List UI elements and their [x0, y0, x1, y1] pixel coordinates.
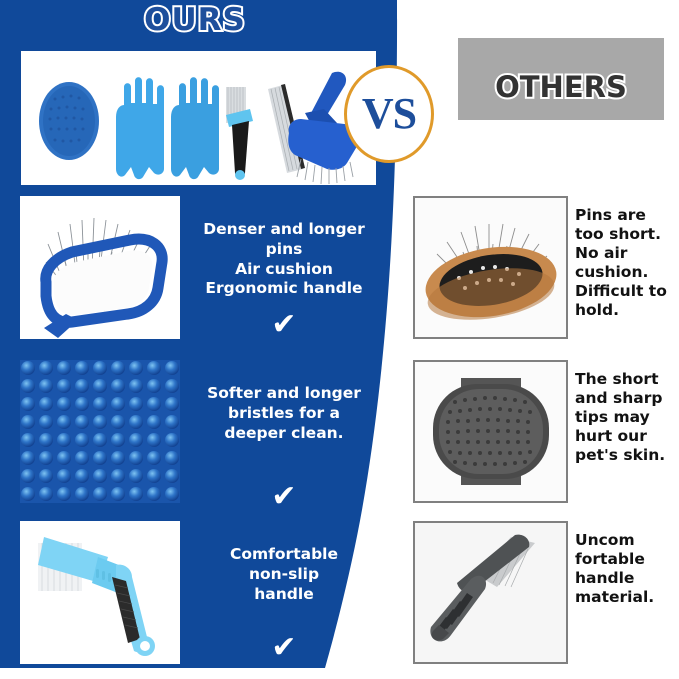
ours-text-1: Denser and longer pins Air cushion Ergon…: [186, 220, 382, 299]
others-text-3-line-1: Uncom: [575, 531, 679, 550]
comparison-row-1: Denser and longer pins Air cushion Ergon…: [0, 196, 679, 356]
others-text-3-line-4: material.: [575, 588, 679, 607]
others-text-1-line-6: hold.: [575, 301, 679, 320]
others-text-1-line-4: cushion.: [575, 263, 679, 282]
ours-text-1-line-3: Ergonomic handle: [186, 279, 382, 299]
check-icon-3: ✔: [186, 633, 382, 663]
others-text-2-line-1: The short: [575, 370, 679, 389]
vs-badge: VS: [344, 65, 434, 163]
others-image-2: [413, 360, 568, 503]
ours-text-2-line-3: deeper clean.: [186, 424, 382, 444]
page-title-ours: OURS: [0, 2, 390, 38]
others-text-3-line-2: fortable: [575, 550, 679, 569]
others-text-1: Pins are too short. No air cushion. Diff…: [575, 206, 679, 319]
others-text-3-line-3: handle: [575, 569, 679, 588]
others-text-3: Uncom fortable handle material.: [575, 531, 679, 607]
ours-image-2: [20, 360, 180, 503]
ours-text-3-line-3: handle: [186, 585, 382, 605]
others-text-1-line-5: Difficult to: [575, 282, 679, 301]
ours-image-1: [20, 196, 180, 339]
ours-text-2-line-2: bristles for a: [186, 404, 382, 424]
hero-product-image: [21, 51, 376, 185]
comparison-row-3: Comfortable non-slip handle ✔: [0, 521, 679, 678]
check-icon-2: ✔: [186, 482, 382, 512]
others-image-1: [413, 196, 568, 339]
vs-label: VS: [362, 92, 416, 136]
others-text-2-line-2: and sharp: [575, 389, 679, 408]
others-text-1-line-3: No air: [575, 244, 679, 263]
ours-text-3: Comfortable non-slip handle: [186, 545, 382, 604]
ours-text-2: Softer and longer bristles for a deeper …: [186, 384, 382, 443]
others-image-3: [413, 521, 568, 664]
others-text-1-line-2: too short.: [575, 225, 679, 244]
others-text-2-line-5: pet's skin.: [575, 446, 679, 465]
ours-text-3-line-1: Comfortable: [186, 545, 382, 565]
others-text-2-line-4: hurt our: [575, 427, 679, 446]
ours-text-1-line-1: Denser and longer pins: [186, 220, 382, 260]
ours-text-3-line-2: non-slip: [186, 565, 382, 585]
others-text-2-line-3: tips may: [575, 408, 679, 427]
others-text-2: The short and sharp tips may hurt our pe…: [575, 370, 679, 465]
page-title-others: OTHERS: [458, 70, 664, 104]
ours-text-1-line-2: Air cushion: [186, 260, 382, 280]
comparison-row-2: Softer and longer bristles for a deeper …: [0, 360, 679, 520]
ours-image-3: [20, 521, 180, 664]
check-icon-1: ✔: [186, 310, 382, 340]
others-text-1-line-1: Pins are: [575, 206, 679, 225]
comparison-infographic: OURS OTHERS: [0, 0, 679, 679]
ours-text-2-line-1: Softer and longer: [186, 384, 382, 404]
